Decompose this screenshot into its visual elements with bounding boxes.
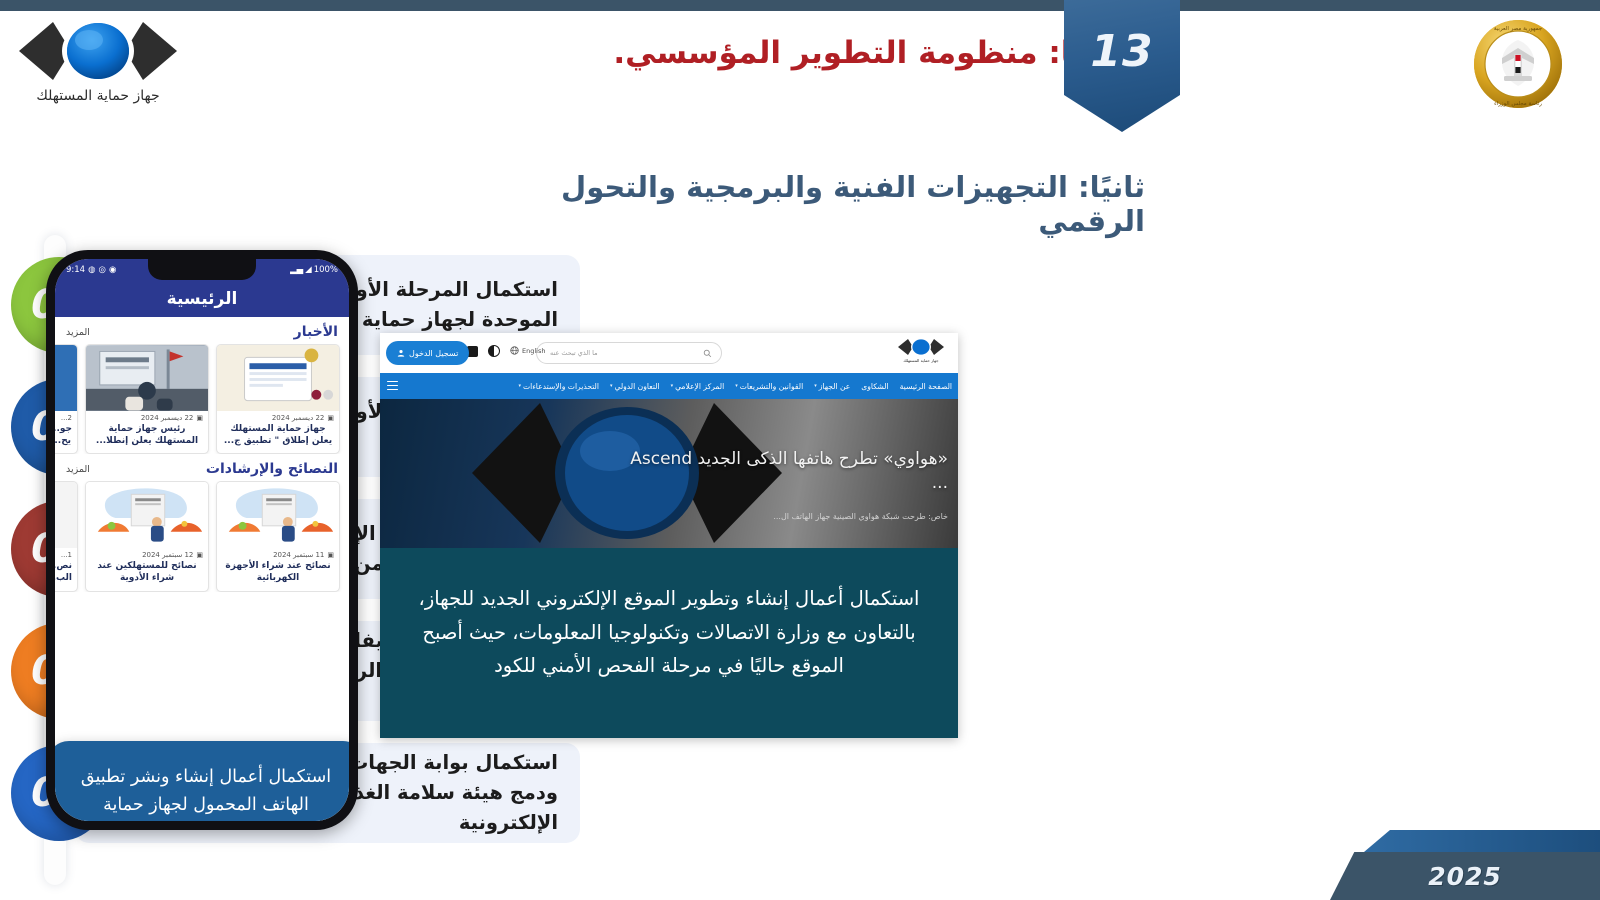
wifi-icon: ◢	[305, 265, 312, 275]
tip-card-meta: 1...	[55, 548, 77, 560]
nav-item-international[interactable]: التعاون الدولي▾	[610, 382, 660, 391]
footer-year-banner: 2025	[1330, 828, 1600, 900]
page-title: رابعًا: منظومة التطوير المؤسسي.	[510, 34, 1130, 73]
search-input[interactable]: ما الذي تبحث عنه	[536, 342, 722, 364]
nav-item-media[interactable]: المركز الإعلامي▾	[671, 382, 725, 391]
signal-icon: ▂▄	[290, 265, 303, 275]
tip-card-date: 11 سبتمبر 2024	[273, 551, 324, 559]
year-accent-bar	[1364, 830, 1600, 852]
website-navigation: الصفحة الرئيسية الشكاوى عن الجهاز▾ القوا…	[380, 373, 958, 399]
login-label: تسجيل الدخول	[409, 349, 458, 358]
status-right: ▂▄ ◢ 100%	[290, 265, 338, 275]
battery-level: 100%	[314, 265, 338, 275]
news-card-meta: ▣ 22 ديسمبر 2024	[217, 411, 339, 423]
eye-logo-icon	[13, 18, 183, 84]
app-header-title: الرئيسية	[55, 281, 349, 317]
calendar-icon: ▣	[327, 414, 334, 422]
slide: جهاز حماية المستهلك رابعًا: منظومة التطو…	[0, 0, 1600, 900]
status-left: 9:14 ◍ ◎ ◉	[66, 265, 116, 275]
chevron-down-icon: ▾	[518, 383, 521, 389]
page-number-ribbon: 13	[1064, 0, 1180, 132]
hero-title: «هواوي» تطرح هاتفها الذكى الجديد Ascend …	[618, 447, 948, 495]
whatsapp-icon: ◍	[88, 265, 95, 275]
hamburger-menu-icon[interactable]	[387, 381, 398, 390]
tip-card[interactable]: ▣ 12 سبتمبر 2024 نصائح للمستهلكين عند شر…	[85, 481, 209, 591]
phone-notch	[148, 259, 256, 280]
news-more-link[interactable]: المزيد	[66, 327, 90, 338]
chevron-down-icon: ▾	[671, 383, 674, 389]
chevron-down-icon: ▾	[735, 383, 738, 389]
agency-logo: جهاز حماية المستهلك	[8, 18, 188, 104]
tips-section-title: النصائح والإرشادات	[206, 461, 338, 477]
tip-card-meta: ▣ 12 سبتمبر 2024	[86, 548, 208, 560]
nav-label: التعاون الدولي	[614, 382, 659, 391]
news-section-header: الأخبار المزيد	[55, 317, 349, 344]
nav-label: المركز الإعلامي	[675, 382, 724, 391]
tip-card[interactable]: 1... نص... الب...	[55, 481, 78, 591]
website-logo-caption: جهاز حماية المستهلك	[892, 358, 950, 363]
chevron-down-icon: ▾	[814, 383, 817, 389]
nav-item-about[interactable]: عن الجهاز▾	[814, 382, 850, 391]
tip-card-date: 1...	[61, 551, 72, 559]
news-card-date: 22 ديسمبر 2024	[272, 414, 325, 422]
search-icon	[703, 349, 712, 358]
status-time: 9:14	[66, 265, 85, 275]
nav-item-complaints[interactable]: الشكاوى	[861, 382, 888, 391]
news-card[interactable]: 2... جو... يح...	[55, 344, 78, 454]
tips-illustration-thumb	[217, 482, 339, 548]
nav-label: القوانين والتشريعات	[740, 382, 803, 391]
tips-partial-thumb	[55, 482, 77, 548]
calendar-icon: ▣	[196, 551, 203, 559]
language-label: English	[522, 347, 545, 355]
phone-mockup: 9:14 ◍ ◎ ◉ ▂▄ ◢ 100% الرئيسية الأخبار ال…	[46, 250, 358, 830]
tips-section-header: النصائح والإرشادات المزيد	[55, 454, 349, 481]
news-conference-thumb	[86, 345, 208, 411]
login-button[interactable]: تسجيل الدخول	[386, 341, 469, 365]
news-card-title: جو... يح...	[55, 423, 77, 453]
tips-more-link[interactable]: المزيد	[66, 464, 90, 475]
tips-illustration-thumb	[86, 482, 208, 548]
language-switch[interactable]: English	[510, 346, 545, 355]
tip-card-title: نصائح عند شراء الأجهزة الكهربائية	[217, 560, 339, 590]
tip-card-title: نصائح للمستهلكين عند شراء الأدوية	[86, 560, 208, 590]
svg-text:رئاسة مجلس الوزراء: رئاسة مجلس الوزراء	[1494, 101, 1542, 107]
nav-label: التحذيرات والإستدعاءات	[523, 382, 599, 391]
hero-subtitle: خاص: طرحت شبكة هواوي الصينية جهاز الهاتف…	[548, 512, 948, 521]
contrast-toggle-icon[interactable]	[488, 345, 500, 357]
nav-item-warnings[interactable]: التحذيرات والإستدعاءات▾	[518, 382, 599, 391]
messenger-icon: ◎	[99, 265, 106, 275]
news-section-title: الأخبار	[294, 324, 338, 340]
tip-card-title: نص... الب...	[55, 560, 77, 590]
news-card-date: 22 ديسمبر 2024	[141, 414, 194, 422]
calendar-icon: ▣	[196, 414, 203, 422]
website-caption: استكمال أعمال إنشاء وتطوير الموقع الإلكت…	[380, 548, 958, 738]
tip-card-date: 12 سبتمبر 2024	[142, 551, 193, 559]
nav-item-laws[interactable]: القوانين والتشريعات▾	[735, 382, 803, 391]
nav-label: الصفحة الرئيسية	[900, 382, 952, 391]
news-card-meta: ▣ 22 ديسمبر 2024	[86, 411, 208, 423]
section-subtitle: ثانيًا: التجهيزات الفنية والبرمجية والتح…	[445, 170, 1145, 238]
website-topbar: جهاز حماية المستهلك ما الذي تبحث عنه Eng…	[380, 333, 958, 373]
phone-screen: 9:14 ◍ ◎ ◉ ▂▄ ◢ 100% الرئيسية الأخبار ال…	[55, 259, 349, 821]
news-card[interactable]: ▣ 22 ديسمبر 2024 جهاز حماية المستهلك يعل…	[216, 344, 340, 454]
globe-icon	[510, 346, 519, 355]
news-card[interactable]: ▣ 22 ديسمبر 2024 رئيس جهاز حماية المستهل…	[85, 344, 209, 454]
search-placeholder: ما الذي تبحث عنه	[546, 349, 703, 357]
nav-item-home[interactable]: الصفحة الرئيسية	[900, 382, 952, 391]
news-card-title: جهاز حماية المستهلك يعلن إطلاق " تطبيق ج…	[217, 423, 339, 453]
news-poster-thumb	[217, 345, 339, 411]
year-label: 2025	[1428, 862, 1502, 891]
svg-text:جمهورية مصر العربية: جمهورية مصر العربية	[1494, 26, 1542, 32]
year-band: 2025	[1330, 852, 1600, 900]
eye-logo-icon	[896, 337, 946, 357]
news-card-meta: 2...	[55, 411, 77, 423]
calendar-icon: ▣	[327, 551, 334, 559]
chevron-down-icon: ▾	[610, 383, 613, 389]
news-card-date: 2...	[61, 414, 72, 422]
tip-card[interactable]: ▣ 11 سبتمبر 2024 نصائح عند شراء الأجهزة …	[216, 481, 340, 591]
nav-label: عن الجهاز	[819, 382, 851, 391]
facebook-icon: ◉	[109, 265, 116, 275]
tip-card-meta: ▣ 11 سبتمبر 2024	[217, 548, 339, 560]
page-number-text: 13	[1064, 26, 1180, 77]
phone-caption: استكمال أعمال إنشاء ونشر تطبيق الهاتف ال…	[55, 741, 349, 821]
news-card-list: ▣ 22 ديسمبر 2024 جهاز حماية المستهلك يعل…	[55, 344, 349, 454]
website-logo[interactable]: جهاز حماية المستهلك	[892, 337, 950, 363]
agency-name-label: جهاز حماية المستهلك	[8, 88, 188, 104]
news-card-title: رئيس جهاز حماية المستهلك يعلن إنطلا...	[86, 423, 208, 453]
user-icon	[397, 349, 405, 357]
top-accent-bar	[0, 0, 1600, 11]
news-partial-thumb	[55, 345, 77, 411]
nav-label: الشكاوى	[861, 382, 888, 391]
website-hero-banner: «هواوي» تطرح هاتفها الذكى الجديد Ascend …	[380, 399, 958, 548]
tips-card-list: ▣ 11 سبتمبر 2024 نصائح عند شراء الأجهزة …	[55, 481, 349, 591]
website-mockup: جهاز حماية المستهلك ما الذي تبحث عنه Eng…	[380, 333, 958, 738]
egypt-government-seal-icon: جمهورية مصر العربية رئاسة مجلس الوزراء	[1472, 18, 1564, 110]
